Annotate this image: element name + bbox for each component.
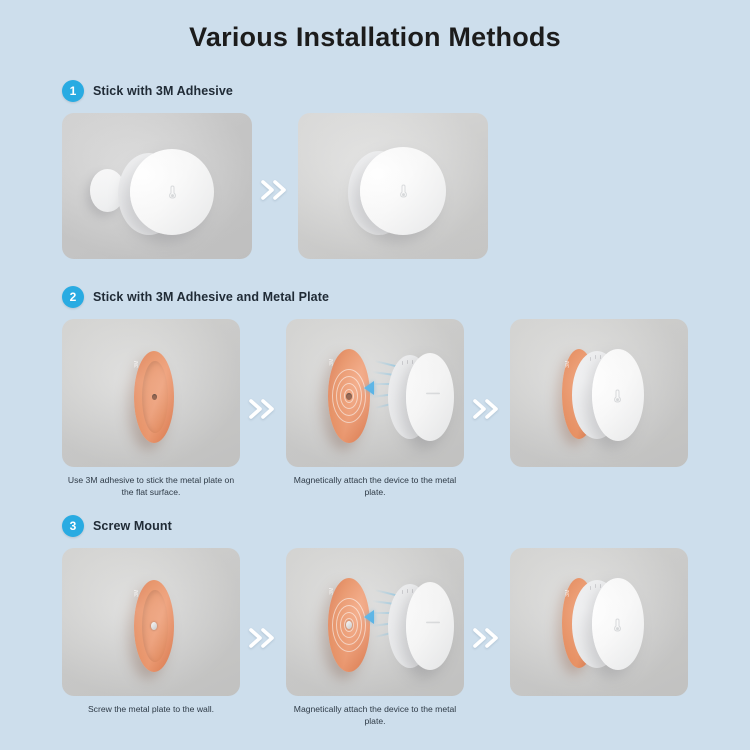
panel-caption-2-2: Magnetically attach the device to the me… [286,474,464,499]
brand-wordmark-icon [426,620,440,625]
screw-hole [152,394,157,400]
page-title: Various Installation Methods [0,0,750,69]
section-method-3: 3 Screw Mount 3M Screw the metal plate t… [0,513,750,728]
brand-logo-icon [400,184,407,198]
plate-tab-label: 3M [565,360,571,368]
panel-cell-1-1 [62,113,252,266]
panel-row-2: 3M Use 3M adhesive to stick the metal pl… [0,319,750,499]
step-title-2: Stick with 3M Adhesive and Metal Plate [93,290,329,304]
illustration-adhesive-and-device [62,113,252,259]
brand-wordmark-icon [426,391,440,396]
sensor-device [406,353,454,441]
mounting-screw [346,621,352,629]
step-badge-3: 3 [62,515,84,537]
step-title-1: Stick with 3M Adhesive [93,84,233,98]
metal-plate: 3M [134,580,174,672]
arrow-2-1 [240,336,286,482]
metal-plate: 3M [134,351,174,443]
step-badge-2: 2 [62,286,84,308]
panel-cell-2-3: 3M [510,319,688,474]
section-method-1: 1 Stick with 3M Adhesive [0,78,750,266]
arrow-3-1 [240,565,286,711]
arrow-1-1 [252,117,298,263]
direction-arrow-left [364,381,374,395]
sensor-device [592,578,644,670]
panel-cell-1-2 [298,113,488,266]
illustration-device-on-screwed-plate: 3M [510,548,688,696]
illustration-plate-screwed: 3M [62,548,240,696]
plate-tab-label: 3M [565,589,571,597]
metal-plate: 3M [328,578,370,672]
sensor-device [360,147,446,235]
arrow-2-2 [464,336,510,482]
sensor-device [406,582,454,670]
sensor-device [592,349,644,441]
step-header-1: 1 Stick with 3M Adhesive [0,78,750,104]
illustration-magnetic-attach: 3M [286,319,464,467]
panel-row-3: 3M Screw the metal plate to the wall. 3M [0,548,750,728]
step-header-3: 3 Screw Mount [0,513,750,539]
step-badge-1: 1 [62,80,84,102]
panel-cell-3-1: 3M Screw the metal plate to the wall. [62,548,240,715]
illustration-magnetic-attach-screwed: 3M [286,548,464,696]
metal-plate: 3M [328,349,370,443]
panel-cell-2-1: 3M Use 3M adhesive to stick the metal pl… [62,319,240,499]
illustration-device-on-plate: 3M [510,319,688,467]
panel-cell-3-3: 3M [510,548,688,703]
step-title-3: Screw Mount [93,519,172,533]
panel-row-1 [0,113,750,266]
step-header-2: 2 Stick with 3M Adhesive and Metal Plate [0,284,750,310]
screw-hole [346,393,352,400]
panel-cell-3-2: 3M [286,548,464,728]
brand-logo-icon [614,618,621,632]
direction-arrow-left [364,610,374,624]
panel-caption-3-1: Screw the metal plate to the wall. [62,703,240,715]
mounting-screw [151,622,157,630]
brand-logo-icon [614,389,621,403]
arrow-3-2 [464,565,510,711]
panel-caption-3-2: Magnetically attach the device to the me… [286,703,464,728]
panel-caption-2-1: Use 3M adhesive to stick the metal plate… [62,474,240,499]
panel-cell-2-2: 3M [286,319,464,499]
section-method-2: 2 Stick with 3M Adhesive and Metal Plate… [0,284,750,499]
brand-logo-icon [169,185,176,199]
plate-tab-label: 3M [134,589,140,597]
plate-tab-label: 3M [134,360,140,368]
sensor-device [130,149,214,235]
illustration-device-mounted-flat [298,113,488,259]
illustration-plate-adhesive: 3M [62,319,240,467]
